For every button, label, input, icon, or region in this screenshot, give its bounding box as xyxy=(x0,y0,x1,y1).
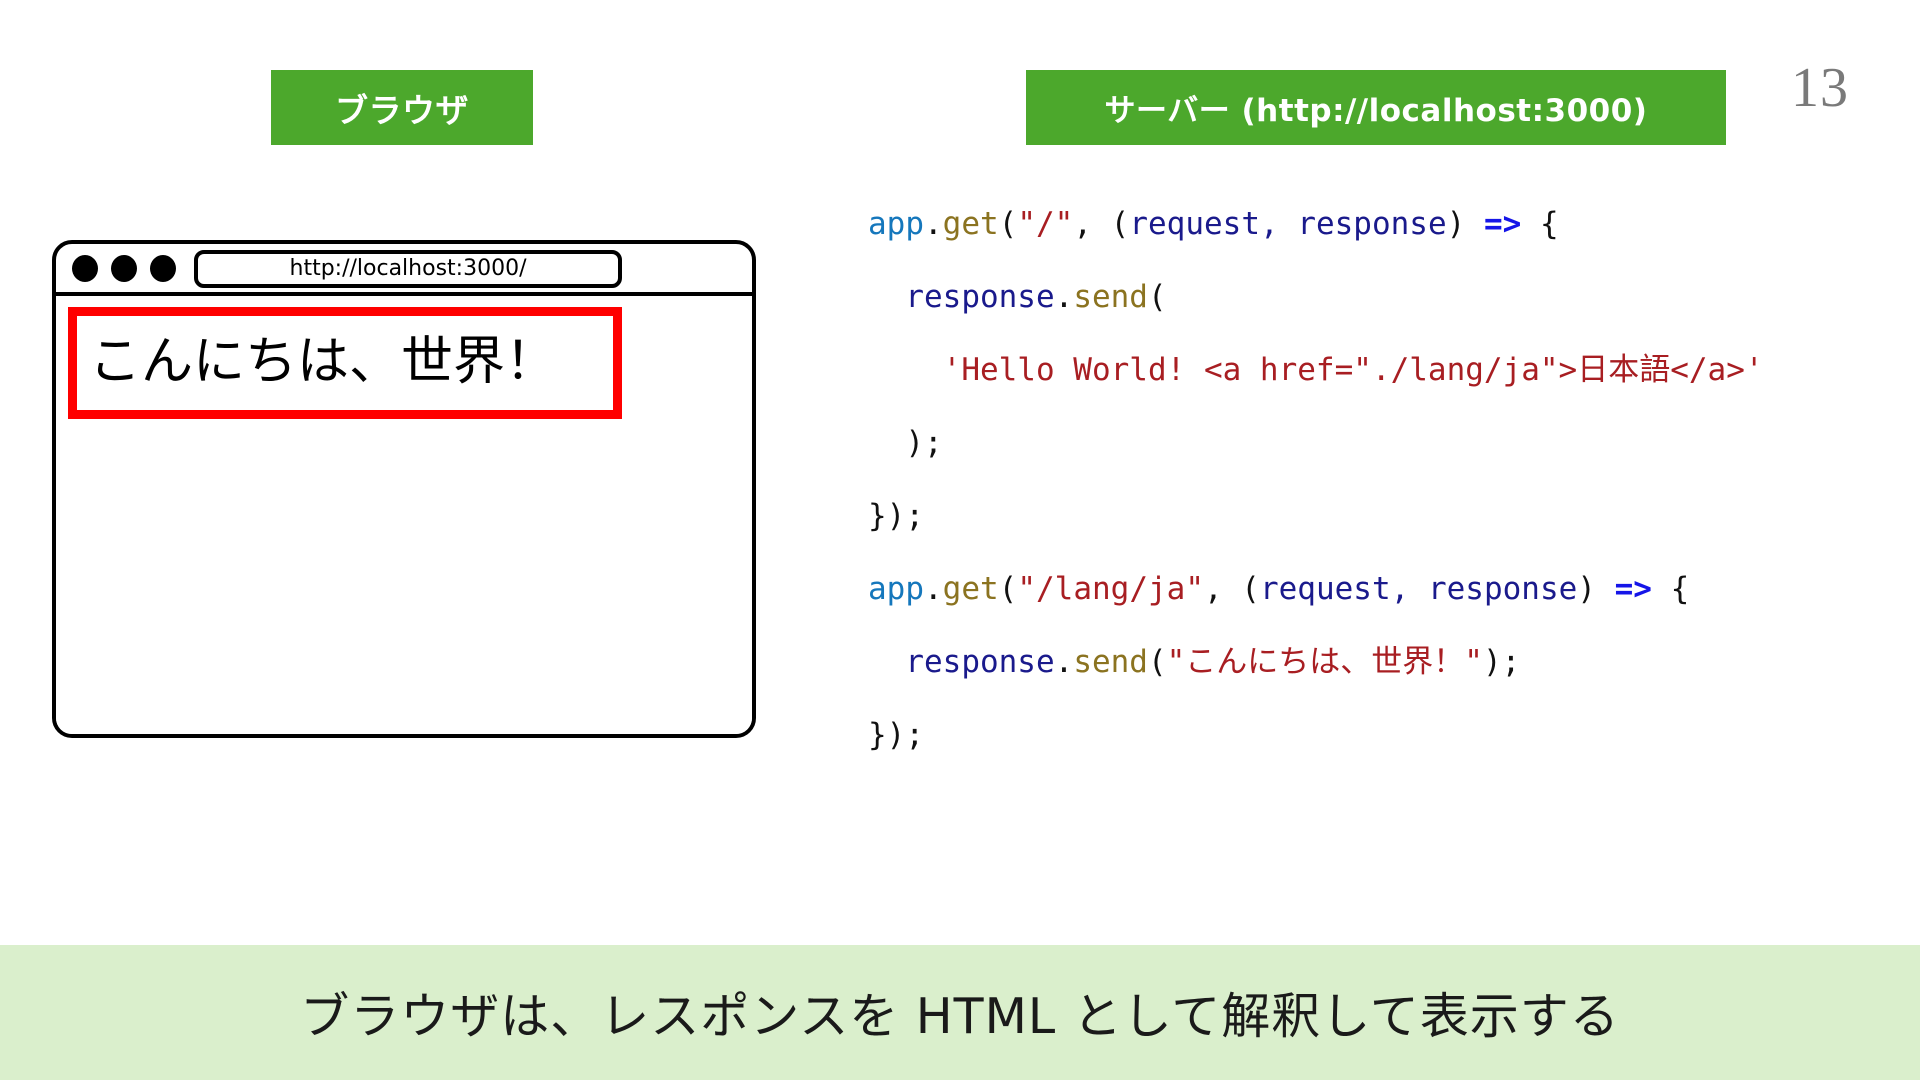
browser-viewport: こんにちは、世界！ xyxy=(56,296,752,734)
code-token-punct: ) xyxy=(1447,206,1484,242)
code-token-str: 'Hello World! <a href="./lang/ja">日本語</a… xyxy=(943,352,1764,388)
banner-server: サーバー (http://localhost:3000) xyxy=(1026,70,1726,145)
code-token-str: "/lang/ja" xyxy=(1017,571,1204,607)
code-token-punct: . xyxy=(924,571,943,607)
code-token-str: "/" xyxy=(1017,206,1073,242)
code-token-param: response xyxy=(905,279,1054,315)
code-token-meth: send xyxy=(1073,644,1148,680)
address-bar[interactable]: http://localhost:3000/ xyxy=(194,250,622,288)
browser-mockup-window: http://localhost:3000/ こんにちは、世界！ xyxy=(52,240,756,738)
code-line: }); xyxy=(868,699,1764,772)
code-token-param: request, response xyxy=(1129,206,1446,242)
code-token-punct: ( xyxy=(999,206,1018,242)
banner-browser-label: ブラウザ xyxy=(335,84,469,132)
code-token-punct: , ( xyxy=(1073,206,1129,242)
address-bar-url-text: http://localhost:3000/ xyxy=(290,258,527,280)
code-line: response.send("こんにちは、世界！"); xyxy=(868,626,1764,699)
window-control-dots xyxy=(72,255,176,282)
code-token-punct: { xyxy=(1652,571,1689,607)
window-dot-icon-1[interactable] xyxy=(72,255,98,282)
code-token-punct: , ( xyxy=(1204,571,1260,607)
code-indent xyxy=(868,425,905,461)
code-line: app.get("/lang/ja", (request, response) … xyxy=(868,553,1764,626)
code-token-punct: }); xyxy=(868,717,924,753)
rendered-page-text: こんにちは、世界！ xyxy=(77,334,557,391)
window-dot-icon-3[interactable] xyxy=(150,255,176,282)
code-token-punct: ( xyxy=(1148,644,1167,680)
code-line: ); xyxy=(868,407,1764,480)
code-token-punct: . xyxy=(1055,279,1074,315)
code-token-punct: ); xyxy=(905,425,942,461)
code-token-punct: . xyxy=(1055,644,1074,680)
banner-browser: ブラウザ xyxy=(271,70,533,145)
code-line: 'Hello World! <a href="./lang/ja">日本語</a… xyxy=(868,334,1764,407)
code-token-param: response xyxy=(905,644,1054,680)
code-snippet: app.get("/", (request, response) => { re… xyxy=(868,188,1764,772)
code-indent xyxy=(868,644,905,680)
code-line: response.send( xyxy=(868,261,1764,334)
code-token-punct: }); xyxy=(868,498,924,534)
caption-text: ブラウザは、レスポンスを HTML として解釈して表示する xyxy=(300,977,1620,1048)
code-token-punct: ( xyxy=(1148,279,1167,315)
code-token-punct: { xyxy=(1521,206,1558,242)
code-token-meth: get xyxy=(943,571,999,607)
browser-chrome-bar: http://localhost:3000/ xyxy=(56,244,752,296)
window-dot-icon-2[interactable] xyxy=(111,255,137,282)
code-token-arrow: => xyxy=(1615,571,1652,607)
code-token-meth: get xyxy=(943,206,999,242)
banner-server-label: サーバー (http://localhost:3000) xyxy=(1105,85,1648,130)
code-token-arrow: => xyxy=(1484,206,1521,242)
code-token-punct: ) xyxy=(1577,571,1614,607)
code-token-punct: ( xyxy=(999,571,1018,607)
code-line: app.get("/", (request, response) => { xyxy=(868,188,1764,261)
page-number: 13 xyxy=(1760,60,1880,116)
code-token-punct: ); xyxy=(1483,644,1520,680)
code-token-obj: app xyxy=(868,206,924,242)
caption-banner: ブラウザは、レスポンスを HTML として解釈して表示する xyxy=(0,945,1920,1080)
slide-root: 13 ブラウザ サーバー (http://localhost:3000) htt… xyxy=(0,0,1920,1080)
code-indent xyxy=(868,279,905,315)
code-token-meth: send xyxy=(1073,279,1148,315)
code-token-punct: . xyxy=(924,206,943,242)
code-line: }); xyxy=(868,480,1764,553)
code-token-obj: app xyxy=(868,571,924,607)
code-token-str: "こんにちは、世界！" xyxy=(1167,644,1483,680)
red-highlight-box: こんにちは、世界！ xyxy=(68,307,622,419)
code-indent xyxy=(868,352,943,388)
code-token-param: request, response xyxy=(1260,571,1577,607)
